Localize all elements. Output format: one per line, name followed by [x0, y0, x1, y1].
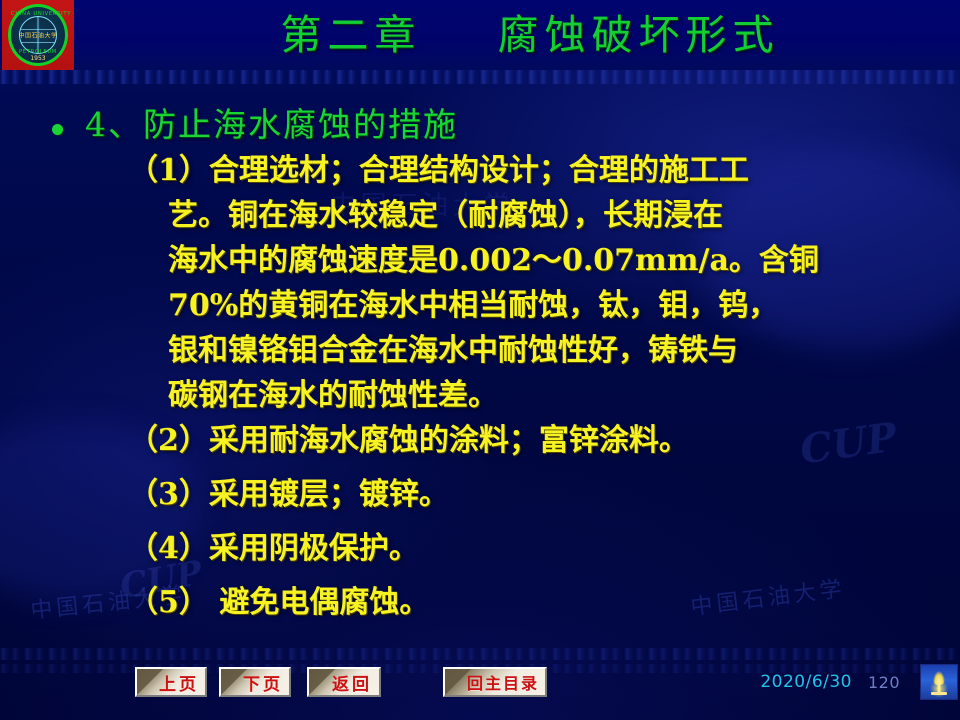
previous-page-label: 上页 [143, 670, 199, 695]
next-page-button[interactable]: 下页 [219, 667, 291, 697]
content-item-2: （2）采用耐海水腐蚀的涂料；富锌涂料。 [128, 418, 918, 463]
main-menu-button[interactable]: 回主目录 [443, 667, 547, 697]
content-item-1-line-2: 艺。铜在海水较稳定（耐腐蚀），长期浸在 [128, 193, 918, 238]
university-logo: CHINA UNIVERSITY OF 中国石油大学 PETROLEUM 195… [2, 0, 74, 70]
logo-center-text: 中国石油大学 [18, 31, 57, 40]
slide-body: 4、防止海水腐蚀的措施 （1）合理选材；合理结构设计；合理的施工工 艺。铜在海水… [0, 86, 960, 658]
slide-footer: 上页 下页 返回 回主目录 2020/6/30 120 [0, 658, 960, 720]
main-menu-label: 回主目录 [451, 670, 539, 694]
next-page-label: 下页 [227, 670, 283, 695]
content-item-1: （1）合理选材；合理结构设计；合理的施工工 艺。铜在海水较稳定（耐腐蚀），长期浸… [128, 148, 918, 418]
content-item-5: （5） 避免电偶腐蚀。 [128, 580, 918, 625]
return-button[interactable]: 返回 [307, 667, 381, 697]
presentation-slide: 中国石油大学 中国石油大学 中国石油大学 CUP CUP CHINA UNIVE… [0, 0, 960, 720]
logo-ring: CHINA UNIVERSITY OF 中国石油大学 PETROLEUM 195… [8, 4, 68, 66]
previous-page-button[interactable]: 上页 [135, 667, 207, 697]
return-label: 返回 [316, 670, 372, 695]
page-number: 120 [868, 673, 900, 692]
emblem-base [931, 692, 947, 695]
date-text: 2020/6/30 [760, 672, 852, 692]
content-item-1-line-1: （1）合理选材；合理结构设计；合理的施工工 [128, 148, 918, 193]
content-item-1-line-5: 银和镍铬钼合金在海水中耐蚀性好，铸铁与 [128, 328, 918, 373]
corner-emblem-icon [920, 664, 958, 700]
content-item-4: （4）采用阴极保护。 [128, 526, 918, 571]
page-title: 第二章 腐蚀破坏形式 [120, 6, 940, 64]
content-item-1-line-4: 70%的黄铜在海水中相当耐蚀，钛，钼，钨， [128, 283, 918, 328]
logo-year: 1953 [11, 55, 65, 62]
content-item-1-line-6: 碳钢在海水的耐蚀性差。 [128, 373, 918, 418]
content-item-1-line-3: 海水中的腐蚀速度是0.002～0.07mm/a。含铜 [128, 238, 918, 283]
content-item-3: （3）采用镀层；镀锌。 [128, 472, 918, 517]
heading-bullet-row: 4、防止海水腐蚀的措施 [52, 102, 458, 148]
bullet-dot-icon [52, 124, 63, 135]
slide-header: CHINA UNIVERSITY OF 中国石油大学 PETROLEUM 195… [0, 0, 960, 70]
section-heading: 4、防止海水腐蚀的措施 [85, 102, 458, 148]
